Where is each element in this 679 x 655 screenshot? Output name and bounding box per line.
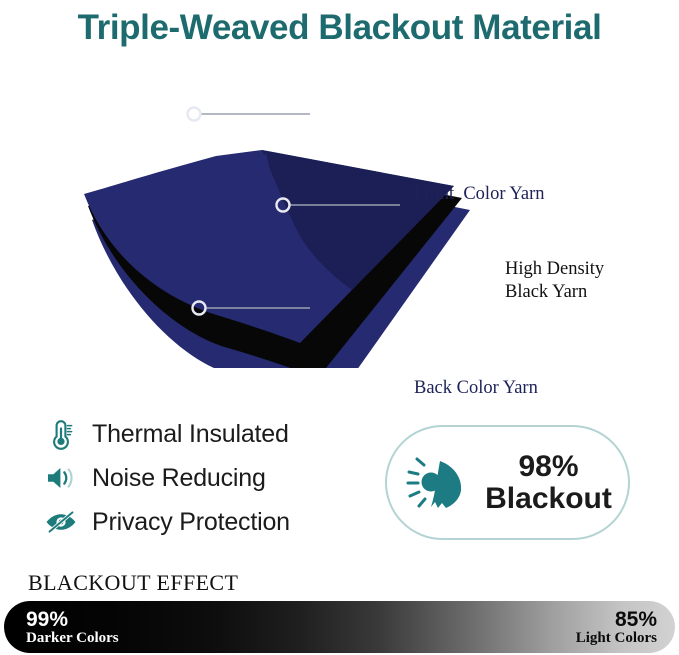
effect-darker-percent: 99% — [26, 609, 68, 630]
callout-label-back-color-yarn: Back Color Yarn — [414, 377, 538, 400]
callout-label-high-density-black-yarn: High DensityBlack Yarn — [505, 258, 604, 303]
feature-list: Thermal Insulated Noise Reducing — [44, 412, 374, 544]
eye-slash-icon — [44, 505, 78, 539]
feature-label-privacy-protection: Privacy Protection — [92, 508, 290, 537]
page-title-text: Triple-Weaved Blackout Material — [78, 8, 602, 48]
feature-item-privacy-protection: Privacy Protection — [44, 500, 374, 544]
callout-label-line2: Black Yarn — [505, 282, 587, 302]
feature-item-thermal-insulated: Thermal Insulated — [44, 412, 374, 456]
fabric-layers-diagram: Front Color Yarn High DensityBlack Yarn … — [0, 78, 679, 368]
sun-blocked-curtain-icon — [403, 446, 477, 520]
badge-text-block: 98% Blackout — [485, 451, 612, 514]
effect-light-label: Light Colors — [576, 631, 657, 646]
callout-label-front-color-yarn: Front Color Yarn — [414, 183, 545, 206]
fabric-layers-svg — [0, 78, 679, 368]
effect-light-percent: 85% — [615, 609, 657, 630]
effect-darker-label: Darker Colors — [26, 631, 119, 646]
product-infographic: Triple-Weaved Blackout Material — [0, 0, 679, 655]
badge-label: Blackout — [485, 483, 612, 515]
circle-marker-icon — [188, 108, 201, 121]
thermometer-icon — [44, 417, 78, 451]
feature-label-noise-reducing: Noise Reducing — [92, 464, 266, 493]
feature-label-thermal-insulated: Thermal Insulated — [92, 420, 289, 449]
page-title: Triple-Weaved Blackout Material — [0, 4, 679, 52]
badge-percent-value: 98% — [518, 451, 578, 483]
callout-label-line1: High Density — [505, 259, 604, 279]
blackout-percentage-badge: 98% Blackout — [385, 425, 630, 540]
speaker-sound-icon — [44, 461, 78, 495]
blackout-effect-gradient-bar: 99% Darker Colors 85% Light Colors — [4, 601, 675, 653]
feature-item-noise-reducing: Noise Reducing — [44, 456, 374, 500]
effect-darker-colors-group: 99% Darker Colors — [26, 609, 119, 647]
effect-light-colors-group: 85% Light Colors — [576, 609, 657, 647]
blackout-effect-heading: BLACKOUT EFFECT — [28, 570, 238, 596]
